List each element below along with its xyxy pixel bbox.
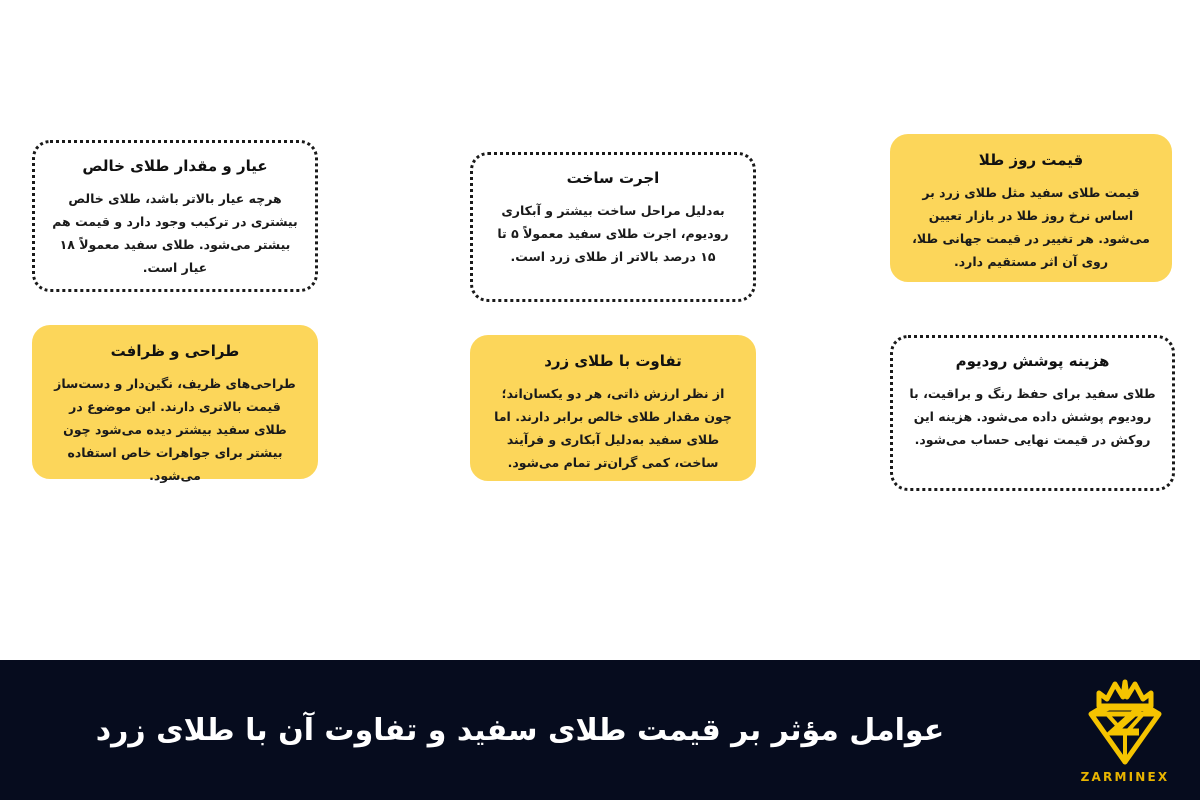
page-title: عوامل مؤثر بر قیمت طلای سفید و تفاوت آن … — [0, 711, 1050, 750]
footer-banner: عوامل مؤثر بر قیمت طلای سفید و تفاوت آن … — [0, 660, 1200, 800]
card-title: تفاوت با طلای زرد — [489, 350, 737, 373]
info-card-making-fee: اجرت ساخت به‌دلیل مراحل ساخت بیشتر و آبک… — [470, 152, 756, 302]
infographic-page: عیار و مقدار طلای خالص هرچه عیار بالاتر … — [0, 0, 1200, 800]
card-body: از نظر ارزش ذاتی، هر دو یکسان‌اند؛ چون م… — [489, 382, 737, 475]
info-card-difference-with-yellow-gold: تفاوت با طلای زرد از نظر ارزش ذاتی، هر د… — [470, 335, 756, 481]
info-card-design-and-delicacy: طراحی و ظرافت طراحی‌های ظریف، نگین‌دار و… — [32, 325, 318, 479]
card-title: اجرت ساخت — [489, 167, 737, 190]
card-title: هزینه پوشش رودیوم — [909, 350, 1156, 373]
crown-diamond-z-logo-icon — [1077, 676, 1173, 768]
card-body: قیمت طلای سفید مثل طلای زرد بر اساس نرخ … — [909, 181, 1153, 274]
brand-wordmark: ZARMINEX — [1081, 770, 1170, 784]
info-card-rhodium-plating-cost: هزینه پوشش رودیوم طلای سفید برای حفظ رنگ… — [890, 335, 1175, 491]
card-title: عیار و مقدار طلای خالص — [51, 155, 299, 178]
info-card-daily-gold-price: قیمت روز طلا قیمت طلای سفید مثل طلای زرد… — [890, 134, 1172, 282]
card-body: طراحی‌های ظریف، نگین‌دار و دست‌ساز قیمت … — [51, 372, 299, 488]
card-title: قیمت روز طلا — [909, 149, 1153, 172]
card-body: هرچه عیار بالاتر باشد، طلای خالص بیشتری … — [51, 187, 299, 280]
info-card-karat-and-pure-gold-amount: عیار و مقدار طلای خالص هرچه عیار بالاتر … — [32, 140, 318, 292]
card-body: طلای سفید برای حفظ رنگ و براقیت، با رودی… — [909, 382, 1156, 451]
card-title: طراحی و ظرافت — [51, 340, 299, 363]
brand-logo: ZARMINEX — [1050, 660, 1200, 800]
card-body: به‌دلیل مراحل ساخت بیشتر و آبکاری رودیوم… — [489, 199, 737, 268]
